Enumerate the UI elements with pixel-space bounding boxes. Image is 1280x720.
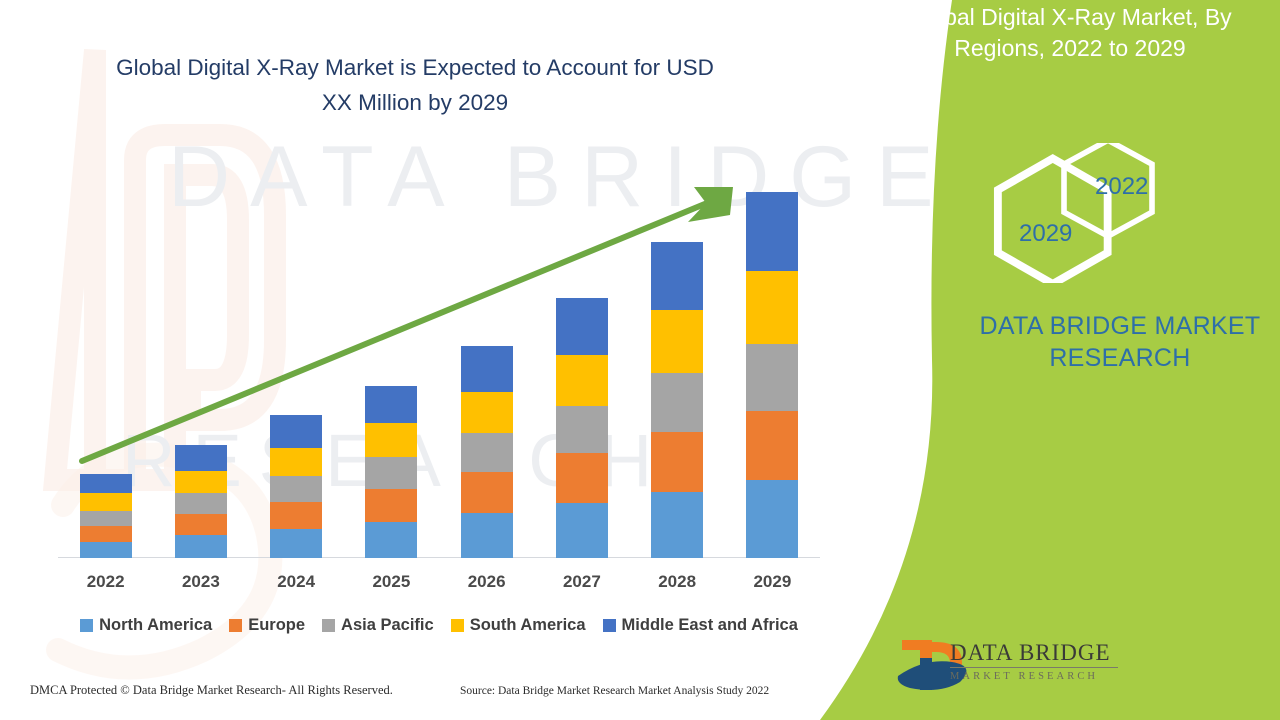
bar-segment bbox=[746, 344, 798, 412]
bar-group bbox=[746, 192, 798, 558]
bar-segment bbox=[175, 514, 227, 536]
bar-group bbox=[556, 298, 608, 558]
hexagon-pair bbox=[992, 143, 1192, 283]
chart-x-axis-labels: 20222023202420252026202720282029 bbox=[58, 572, 820, 602]
bar-group bbox=[365, 386, 417, 558]
bar-segment bbox=[461, 346, 513, 392]
bar-segment bbox=[746, 271, 798, 343]
legend-item[interactable]: Asia Pacific bbox=[322, 616, 434, 635]
bar-segment bbox=[80, 474, 132, 493]
chart-legend: North AmericaEuropeAsia PacificSouth Ame… bbox=[58, 616, 820, 635]
bar-segment bbox=[651, 310, 703, 373]
x-axis-label: 2028 bbox=[629, 572, 725, 592]
bar-segment bbox=[80, 493, 132, 510]
bar-segment bbox=[175, 471, 227, 494]
bar-segment bbox=[365, 423, 417, 456]
bar-segment bbox=[746, 192, 798, 272]
stacked-bar-chart bbox=[58, 170, 820, 558]
legend-item[interactable]: Middle East and Africa bbox=[603, 616, 798, 635]
legend-label: Asia Pacific bbox=[341, 616, 434, 635]
bar-segment bbox=[651, 373, 703, 432]
hexagon-year-end: 2029 bbox=[1019, 220, 1072, 248]
bar-segment bbox=[365, 457, 417, 489]
bar-segment bbox=[270, 502, 322, 529]
logo-title: DATA BRIDGE bbox=[950, 641, 1125, 665]
x-axis-label: 2022 bbox=[58, 572, 154, 592]
bar-segment bbox=[80, 526, 132, 542]
panel-title: Global Digital X-Ray Market, By Regions,… bbox=[860, 2, 1280, 64]
page-title: Global Digital X-Ray Market is Expected … bbox=[110, 50, 720, 120]
legend-swatch-icon bbox=[229, 619, 242, 632]
footer-source: Source: Data Bridge Market Research Mark… bbox=[460, 685, 769, 697]
bar-segment bbox=[175, 445, 227, 471]
legend-swatch-icon bbox=[322, 619, 335, 632]
bar-segment bbox=[270, 476, 322, 502]
bar-group bbox=[175, 445, 227, 558]
bar-group bbox=[270, 415, 322, 558]
x-axis-label: 2027 bbox=[534, 572, 630, 592]
bar-segment bbox=[556, 355, 608, 406]
bar-segment bbox=[461, 472, 513, 513]
bar-segment bbox=[461, 392, 513, 433]
bar-segment bbox=[270, 529, 322, 558]
bar-group bbox=[80, 474, 132, 558]
bar-segment bbox=[651, 432, 703, 492]
bar-segment bbox=[365, 522, 417, 558]
logo-tagline: MARKET RESEARCH bbox=[950, 671, 1125, 683]
bar-segment bbox=[80, 511, 132, 526]
bar-segment bbox=[746, 480, 798, 558]
legend-swatch-icon bbox=[80, 619, 93, 632]
hexagon-year-start: 2022 bbox=[1095, 173, 1148, 201]
legend-item[interactable]: Europe bbox=[229, 616, 305, 635]
legend-swatch-icon bbox=[451, 619, 464, 632]
bar-segment bbox=[175, 535, 227, 558]
bar-segment bbox=[556, 453, 608, 503]
bar-group bbox=[651, 242, 703, 558]
x-axis-label: 2024 bbox=[248, 572, 344, 592]
footer-copyright: DMCA Protected © Data Bridge Market Rese… bbox=[30, 683, 393, 698]
bar-segment bbox=[270, 448, 322, 476]
legend-label: South America bbox=[470, 616, 586, 635]
legend-item[interactable]: North America bbox=[80, 616, 212, 635]
bar-segment bbox=[175, 493, 227, 513]
bar-segment bbox=[556, 298, 608, 355]
bar-group bbox=[461, 346, 513, 558]
bar-segment bbox=[365, 489, 417, 522]
bar-segment bbox=[556, 406, 608, 453]
x-axis-label: 2025 bbox=[343, 572, 439, 592]
bar-segment bbox=[556, 503, 608, 558]
legend-label: Europe bbox=[248, 616, 305, 635]
bar-segment bbox=[80, 542, 132, 558]
legend-item[interactable]: South America bbox=[451, 616, 586, 635]
bar-segment bbox=[461, 513, 513, 558]
bar-segment bbox=[365, 386, 417, 424]
x-axis-label: 2023 bbox=[153, 572, 249, 592]
bar-segment bbox=[651, 242, 703, 310]
legend-swatch-icon bbox=[603, 619, 616, 632]
x-axis-label: 2029 bbox=[724, 572, 820, 592]
legend-label: North America bbox=[99, 616, 212, 635]
panel-brand-name: DATA BRIDGE MARKET RESEARCH bbox=[975, 310, 1265, 374]
bar-segment bbox=[270, 415, 322, 448]
legend-label: Middle East and Africa bbox=[622, 616, 798, 635]
x-axis-label: 2026 bbox=[439, 572, 535, 592]
bar-segment bbox=[746, 411, 798, 480]
bar-segment bbox=[651, 492, 703, 558]
logo-divider bbox=[950, 667, 1118, 668]
bar-segment bbox=[461, 433, 513, 472]
logo-text-block: DATA BRIDGE MARKET RESEARCH bbox=[950, 641, 1125, 683]
infographic-root: DATA BRIDGE RESEARCH Global Digital X-Ra… bbox=[0, 0, 1280, 720]
